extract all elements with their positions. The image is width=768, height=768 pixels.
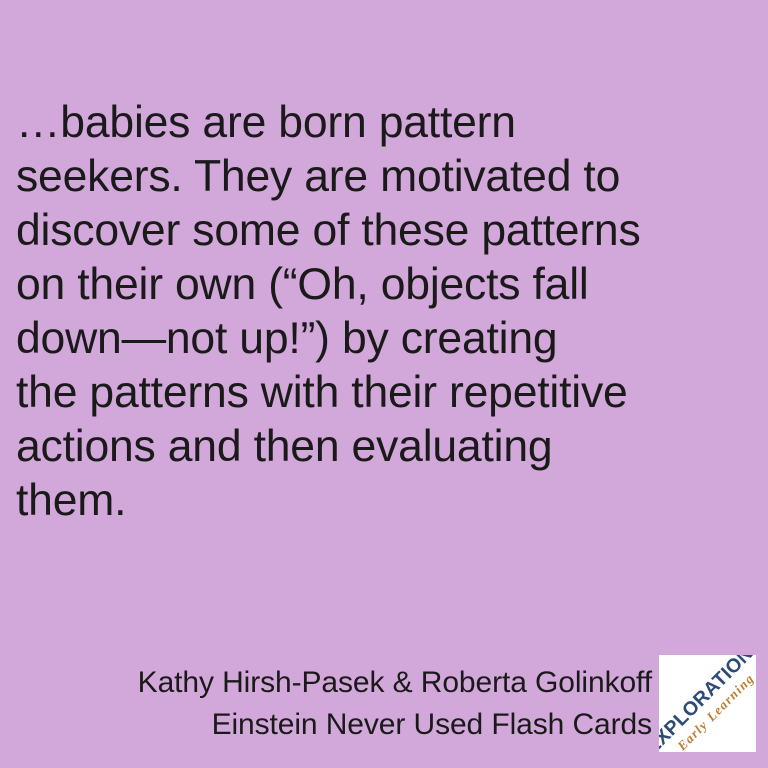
attribution-authors: Kathy Hirsh-Pasek & Roberta Golinkoff <box>40 662 652 704</box>
quote-line: seekers. They are motivated to <box>16 150 756 204</box>
quote-line: them. <box>16 474 756 528</box>
quote-line: the patterns with their repetitive <box>16 366 756 420</box>
quote-card: …babies are born pattern seekers. They a… <box>0 0 768 768</box>
quote-line: on their own (“Oh, objects fall <box>16 258 756 312</box>
attribution-block: Kathy Hirsh-Pasek & Roberta Golinkoff Ei… <box>40 662 652 746</box>
attribution-source-title: Einstein Never Used Flash Cards <box>40 704 652 746</box>
explorations-logo: EXPLORATIONS Early Learning <box>659 655 756 752</box>
quote-text-block: …babies are born pattern seekers. They a… <box>16 96 756 528</box>
quote-line: discover some of these patterns <box>16 204 756 258</box>
quote-line: actions and then evaluating <box>16 420 756 474</box>
quote-line: down—not up!”) by creating <box>16 312 756 366</box>
quote-line: …babies are born pattern <box>16 96 756 150</box>
logo-primary-text: EXPLORATIONS <box>659 655 756 752</box>
logo-inner: EXPLORATIONS Early Learning <box>659 655 756 752</box>
